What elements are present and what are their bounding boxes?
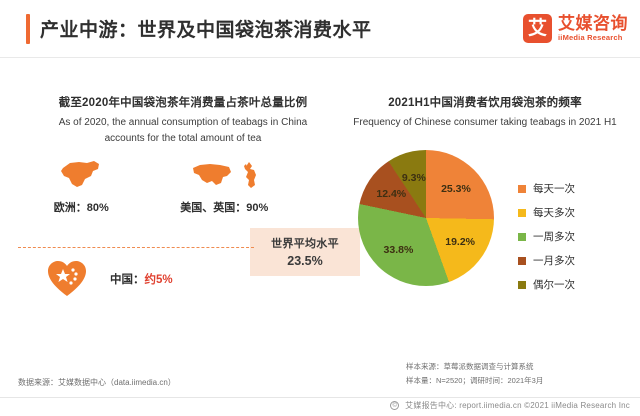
europe-map-group — [58, 157, 104, 191]
sample-source-note: 样本来源：草莓派数据调查与计算系统 — [406, 360, 543, 374]
legend-label: 每天多次 — [533, 205, 575, 220]
region-us-uk: 美国、英国：90% — [180, 160, 268, 215]
left-subtitle-en-line2: accounts for the total amount of tea — [24, 131, 342, 147]
pie-slice-label-每天一次: 25.3% — [441, 183, 471, 195]
footer-divider — [0, 397, 640, 398]
china-label-text: 中国： — [110, 274, 145, 286]
pie-legend: 每天一次每天多次一周多次一月多次偶尔一次 — [518, 181, 575, 292]
pie-slice-label-偶尔一次: 9.3% — [402, 172, 426, 184]
legend-label: 偶尔一次 — [533, 277, 575, 292]
average-dashed-line — [18, 247, 254, 248]
right-subtitle-cn: 2021H1中国消费者饮用袋泡茶的频率 — [330, 95, 640, 111]
sample-notes: 样本来源：草莓派数据调查与计算系统 样本量：N=2520；调研时间：2021年3… — [406, 360, 543, 388]
legend-swatch-icon — [518, 185, 526, 193]
right-panel: 2021H1中国消费者饮用袋泡茶的频率 Frequency of Chinese… — [330, 95, 640, 131]
uk-map-icon — [242, 160, 259, 191]
infographic-page: 产业中游：世界及中国袋泡茶消费水平 艾 艾媒咨询 iiMedia Researc… — [0, 0, 640, 416]
region-europe: 欧洲：80% — [54, 157, 109, 215]
pie-disc: 25.3%19.2%33.8%12.4%9.3% — [358, 150, 494, 286]
left-subtitle-en-line1: As of 2020, the annual consumption of te… — [24, 115, 342, 131]
legend-swatch-icon — [518, 233, 526, 241]
usa-map-icon — [190, 160, 234, 191]
world-average-box: 世界平均水平 23.5% — [250, 228, 360, 276]
data-source-note-wrap: 数据来源：艾媒数据中心（data.iimedia.cn） — [18, 376, 176, 391]
legend-label: 一月多次 — [533, 253, 575, 268]
legend-item-一周多次[interactable]: 一周多次 — [518, 229, 575, 244]
title-accent-bar — [26, 14, 30, 44]
pie-slice-label-每天多次: 19.2% — [445, 236, 475, 248]
region-maps-row: 欧洲：80% 美国、英国：90% — [18, 157, 304, 215]
logo-mark-icon: 艾 — [523, 14, 552, 43]
legend-label: 每天一次 — [533, 181, 575, 196]
copyright-icon: © — [390, 401, 399, 410]
pie-slice-label-一周多次: 33.8% — [384, 244, 414, 256]
page-footer: © 艾媒报告中心: report.iimedia.cn ©2021 iiMedi… — [390, 400, 630, 411]
legend-item-每天多次[interactable]: 每天多次 — [518, 205, 575, 220]
world-average-value: 23.5% — [254, 254, 356, 268]
china-label: 中国：约5% — [110, 271, 173, 287]
legend-swatch-icon — [518, 257, 526, 265]
legend-swatch-icon — [518, 281, 526, 289]
page-header: 产业中游：世界及中国袋泡茶消费水平 艾 艾媒咨询 iiMedia Researc… — [0, 0, 640, 58]
left-subtitle-en: As of 2020, the annual consumption of te… — [18, 115, 348, 146]
sample-size-note: 样本量：N=2520；调研时间：2021年3月 — [406, 374, 543, 388]
left-subtitle-cn: 截至2020年中国袋泡茶年消费量占茶叶总量比例 — [18, 95, 348, 111]
china-row: 中国：约5% — [46, 260, 173, 298]
header-divider — [0, 57, 640, 58]
legend-swatch-icon — [518, 209, 526, 217]
pie-slice-label-一月多次: 12.4% — [376, 188, 406, 200]
china-value: 约5% — [145, 274, 173, 286]
data-source-note: 数据来源：艾媒数据中心（data.iimedia.cn） — [18, 376, 176, 391]
logo-text: 艾媒咨询 iiMedia Research — [558, 15, 628, 42]
china-heart-icon — [46, 260, 88, 298]
legend-item-每天一次[interactable]: 每天一次 — [518, 181, 575, 196]
page-title: 产业中游：世界及中国袋泡茶消费水平 — [40, 15, 372, 42]
brand-logo: 艾 艾媒咨询 iiMedia Research — [523, 14, 628, 43]
world-average-label: 世界平均水平 — [254, 235, 356, 251]
legend-item-一月多次[interactable]: 一月多次 — [518, 253, 575, 268]
logo-name-cn: 艾媒咨询 — [558, 15, 628, 33]
right-subtitle-en: Frequency of Chinese consumer taking tea… — [330, 115, 640, 131]
us-uk-map-group — [190, 160, 259, 191]
legend-item-偶尔一次[interactable]: 偶尔一次 — [518, 277, 575, 292]
footer-text: 艾媒报告中心: report.iimedia.cn ©2021 iiMedia … — [405, 400, 630, 411]
left-panel: 截至2020年中国袋泡茶年消费量占茶叶总量比例 As of 2020, the … — [18, 95, 348, 146]
pie-chart: 25.3%19.2%33.8%12.4%9.3% — [358, 150, 494, 286]
region-us-uk-label: 美国、英国：90% — [180, 199, 268, 215]
region-europe-label: 欧洲：80% — [54, 199, 109, 215]
europe-map-icon — [58, 157, 104, 191]
logo-name-en: iiMedia Research — [558, 33, 628, 42]
legend-label: 一周多次 — [533, 229, 575, 244]
